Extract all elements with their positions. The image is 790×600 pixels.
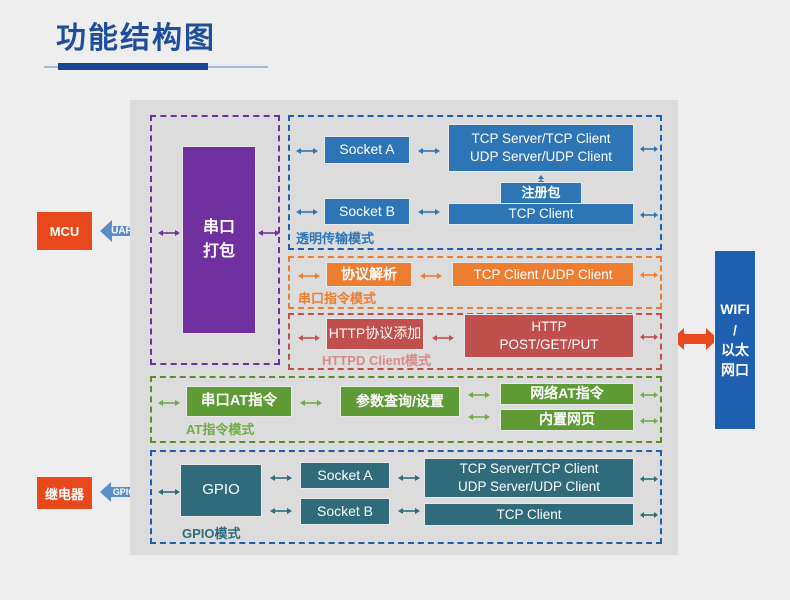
wifi-connector [672, 325, 718, 353]
double-arrow-icon [468, 411, 490, 423]
double-arrow-icon [640, 509, 658, 521]
double-arrow-icon [158, 486, 180, 498]
tcp-udp-server-box: TCP Server/TCP Client UDP Server/UDP Cli… [448, 124, 634, 172]
double-arrow-icon [432, 332, 454, 344]
double-arrow-icon [640, 209, 658, 221]
page-title: 功能结构图 [56, 20, 216, 58]
http-method-line-2: POST/GET/PUT [499, 336, 598, 354]
arrow-client-to-net [640, 268, 658, 286]
gpio-tcp-client-box: TCP Client [424, 503, 634, 526]
diagram-page: 功能结构图 MCU UART 继电器 GPIO WIFI / 以太 网口 串口 [0, 0, 790, 600]
gpio-tcp-udp-server-line-2: UDP Server/UDP Client [458, 478, 600, 496]
arrow-to-protocol-parse [298, 269, 320, 287]
double-arrow-icon [270, 505, 292, 517]
arrow-uart-to-serial [158, 226, 180, 244]
tcp-udp-server-line-1: TCP Server/TCP Client [471, 130, 610, 148]
double-arrow-icon [270, 472, 292, 484]
httpd-mode-caption: HTTPD Client模式 [322, 350, 431, 369]
builtin-webpage-box: 内置网页 [500, 409, 634, 431]
arrow-to-http-add [298, 331, 320, 349]
arrow-gpio-socket-a-to-server [398, 471, 420, 489]
tcp-udp-client-label: TCP Client /UDP Client [473, 267, 612, 282]
protocol-parse-box: 协议解析 [326, 262, 412, 287]
arrow-gpio-client-to-net [640, 508, 658, 526]
wifi-line-4: 网口 [721, 360, 749, 380]
arrow-http-add-to-method [432, 331, 454, 349]
wifi-block: WIFI / 以太 网口 [714, 250, 756, 430]
double-arrow-icon [398, 505, 420, 517]
double-arrow-icon [640, 269, 658, 281]
socket-b-label: Socket B [339, 204, 395, 220]
arrow-to-serial-at [158, 396, 180, 414]
tcp-client-box: TCP Client [448, 203, 634, 225]
gpio-socket-a-label: Socket A [317, 468, 372, 484]
wifi-arrow-icon [672, 325, 718, 353]
gpio-tcp-udp-server-box: TCP Server/TCP Client UDP Server/UDP Cli… [424, 458, 634, 498]
arrow-gpio-server-to-net [640, 472, 658, 490]
arrow-net-at-to-net [640, 388, 658, 406]
double-arrow-icon [298, 332, 320, 344]
http-protocol-add-box: HTTP协议添加 [326, 318, 424, 350]
double-arrow-icon [640, 389, 658, 401]
http-method-line-1: HTTP [531, 318, 566, 336]
gpio-box: GPIO [180, 464, 262, 517]
relay-block: 继电器 [36, 476, 93, 510]
double-arrow-icon [640, 143, 658, 155]
network-at-command-box: 网络AT指令 [500, 383, 634, 405]
register-packet-label: 注册包 [521, 186, 560, 201]
gpio-tcp-udp-server-line-1: TCP Server/TCP Client [459, 460, 598, 478]
arrow-param-to-net-at [468, 388, 490, 406]
mcu-label: MCU [50, 224, 80, 239]
double-arrow-icon [640, 415, 658, 427]
socket-a-label: Socket A [339, 142, 394, 158]
double-arrow-icon [640, 331, 658, 343]
gpio-socket-a-box: Socket A [300, 462, 390, 489]
double-arrow-icon [418, 206, 440, 218]
double-arrow-icon [296, 145, 318, 157]
serial-packing-line-2: 打包 [203, 240, 235, 264]
gpio-mode-caption: GPIO模式 [182, 523, 241, 542]
arrow-webpage-to-net [640, 414, 658, 432]
serial-at-command-box: 串口AT指令 [186, 386, 292, 417]
arrow-to-socket-b [296, 205, 318, 223]
protocol-parse-label: 协议解析 [341, 267, 397, 283]
arrow-http-method-to-net [640, 330, 658, 348]
serial-at-command-label: 串口AT指令 [201, 393, 277, 409]
arrow-socket-a-to-server [418, 144, 440, 162]
arrow-gpio-to-socket-a [270, 471, 292, 489]
tcp-udp-client-box: TCP Client /UDP Client [452, 262, 634, 287]
double-arrow-icon [420, 270, 442, 282]
transparent-mode-caption: 透明传输模式 [296, 228, 374, 247]
serial-packing-box: 串口 打包 [182, 146, 256, 334]
double-arrow-icon [300, 397, 322, 409]
tcp-client-label: TCP Client [508, 206, 573, 221]
wifi-line-2: / [733, 320, 737, 340]
arrow-serial-at-to-param [300, 396, 322, 414]
double-arrow-icon [296, 206, 318, 218]
double-arrow-icon [158, 397, 180, 409]
http-protocol-add-label: HTTP协议添加 [329, 326, 422, 342]
gpio-tcp-client-label: TCP Client [496, 507, 561, 522]
tcp-udp-server-line-2: UDP Server/UDP Client [470, 148, 612, 166]
gpio-socket-b-label: Socket B [317, 504, 373, 520]
arrow-param-to-webpage [468, 410, 490, 428]
serial-packing-line-1: 串口 [203, 216, 235, 240]
double-arrow-icon [298, 270, 320, 282]
arrow-gpio-socket-b-to-client [398, 504, 420, 522]
arrow-serial-to-modes [258, 226, 280, 244]
builtin-webpage-label: 内置网页 [539, 412, 595, 428]
wifi-line-3: 以太 [721, 340, 749, 360]
gpio-label: GPIO [202, 482, 240, 499]
title-rule-thick [58, 63, 208, 70]
arrow-server-to-net [640, 142, 658, 160]
at-mode-caption: AT指令模式 [186, 419, 254, 438]
mcu-block: MCU [36, 211, 93, 251]
param-query-set-box: 参数查询/设置 [340, 386, 460, 417]
double-arrow-icon [468, 389, 490, 401]
socket-b-box: Socket B [324, 198, 410, 225]
double-arrow-icon [418, 145, 440, 157]
wifi-line-1: WIFI [720, 299, 750, 319]
arrow-to-socket-a [296, 144, 318, 162]
double-arrow-icon [640, 473, 658, 485]
network-at-command-label: 网络AT指令 [530, 386, 604, 402]
arrow-to-gpio [158, 485, 180, 503]
param-query-set-label: 参数查询/设置 [356, 394, 444, 410]
double-arrow-icon [398, 472, 420, 484]
arrow-tcp-client-to-net [640, 208, 658, 226]
http-method-box: HTTP POST/GET/PUT [464, 314, 634, 358]
arrow-gpio-to-socket-b [270, 504, 292, 522]
double-arrow-icon [258, 227, 280, 239]
relay-label: 继电器 [45, 484, 84, 503]
double-arrow-icon [158, 227, 180, 239]
socket-a-box: Socket A [324, 136, 410, 164]
gpio-socket-b-box: Socket B [300, 498, 390, 525]
arrow-parse-to-client [420, 269, 442, 287]
arrow-socket-b-to-tcp-client [418, 205, 440, 223]
serial-command-mode-caption: 串口指令模式 [298, 288, 376, 307]
